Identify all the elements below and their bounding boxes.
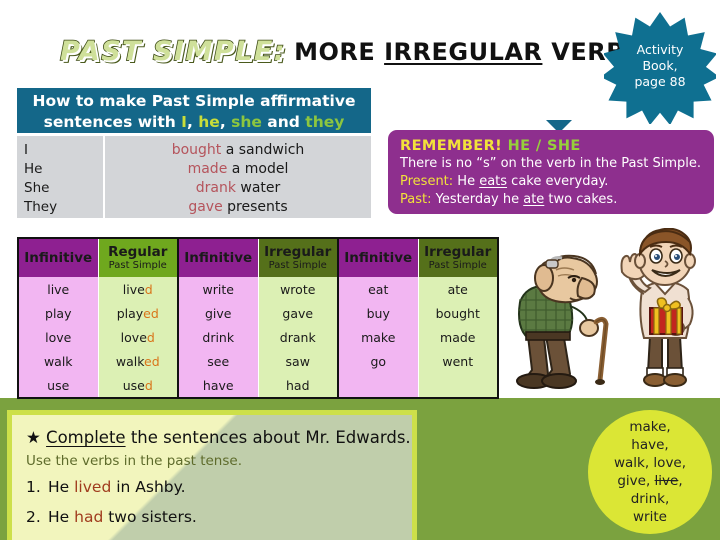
- title-irregular-underlined: IRREGULAR: [384, 38, 542, 66]
- cell-past: walked: [98, 349, 178, 373]
- header-regular: RegularPast Simple: [98, 238, 178, 277]
- remember-title: REMEMBER! HE / SHE: [400, 137, 704, 155]
- item-number: 2.: [26, 504, 48, 531]
- complete-underlined: Complete: [46, 428, 126, 447]
- subject-cell: He: [24, 160, 103, 179]
- remember-line-1: There is no “s” on the verb in the Past …: [400, 155, 704, 173]
- title-more-irregular-verbs: MORE IRREGULAR VERBS: [294, 38, 643, 66]
- exercise-box: ★ Complete the sentences about Mr. Edwar…: [12, 415, 412, 540]
- cell-past: used: [98, 373, 178, 398]
- item-number: 1.: [26, 474, 48, 501]
- cell-infinitive: live: [18, 277, 98, 301]
- word-give: give,: [617, 473, 654, 489]
- past-verb: gave: [188, 199, 222, 215]
- cell-past: made: [418, 325, 498, 349]
- title-past-simple: PAST SIMPLE:: [60, 36, 286, 67]
- cell-infinitive: see: [178, 349, 258, 373]
- cell-past: played: [98, 301, 178, 325]
- verb-ate: ate: [523, 192, 544, 207]
- cell-past: lived: [98, 277, 178, 301]
- cell-past: saw: [258, 349, 338, 373]
- cell-infinitive: have: [178, 373, 258, 398]
- old-man-figure: [517, 256, 606, 388]
- exercise-item-1: 1.He lived in Ashby.: [26, 474, 412, 501]
- cell-infinitive: eat: [338, 277, 418, 301]
- subject-cell: They: [24, 198, 103, 217]
- header-infinitive-1: Infinitive: [18, 238, 98, 277]
- remember-label: REMEMBER!: [400, 138, 502, 154]
- cell-past: bought: [418, 301, 498, 325]
- word-bank-line: make,: [614, 418, 686, 436]
- remember-box: REMEMBER! HE / SHE There is no “s” on th…: [388, 130, 714, 214]
- present-label: Present:: [400, 174, 453, 189]
- pronoun-they: they: [305, 113, 344, 131]
- cell-past: wrote: [258, 277, 338, 301]
- word-bank-line: have,: [614, 436, 686, 454]
- past-verb: bought: [172, 142, 222, 158]
- predicate-cell: bought a sandwich: [105, 141, 371, 160]
- cell-infinitive: use: [18, 373, 98, 398]
- cell-infinitive: drink: [178, 325, 258, 349]
- page-title: PAST SIMPLE:MORE IRREGULAR VERBS: [60, 36, 643, 67]
- remember-he-she: HE / SHE: [502, 138, 581, 154]
- illustration-characters: [504, 228, 714, 398]
- header-infinitive-2: Infinitive: [178, 238, 258, 277]
- past-label: Past:: [400, 192, 431, 207]
- badge-text: Activity Book, page 88: [604, 42, 716, 90]
- subject-column: I He She They: [17, 136, 105, 218]
- cell-empty: [418, 373, 498, 398]
- cell-past: went: [418, 349, 498, 373]
- cell-past: had: [258, 373, 338, 398]
- rule-header-line-1: How to make Past Simple affirmative: [17, 91, 371, 112]
- word-bank-circle: make, have, walk, love, give, live, drin…: [588, 410, 712, 534]
- predicate-cell: drank water: [105, 179, 371, 198]
- word-bank-line: walk, love,: [614, 454, 686, 472]
- exercise-instruction: ★ Complete the sentences about Mr. Edwar…: [26, 427, 412, 449]
- answer-blank[interactable]: had: [74, 508, 103, 526]
- answer-blank[interactable]: lived: [74, 478, 111, 496]
- header-irregular-1: IrregularPast Simple: [258, 238, 338, 277]
- example-sentences-table: I He She They bought a sandwich made a m…: [17, 136, 371, 218]
- predicate-cell: made a model: [105, 160, 371, 179]
- word-comma: ,: [678, 473, 682, 489]
- exercise-item-2: 2.He had two sisters.: [26, 504, 412, 531]
- cell-past: drank: [258, 325, 338, 349]
- cell-infinitive: write: [178, 277, 258, 301]
- cell-past: loved: [98, 325, 178, 349]
- subject-cell: She: [24, 179, 103, 198]
- table-row: play played give gave buy bought: [18, 301, 498, 325]
- exercise-box-border: ★ Complete the sentences about Mr. Edwar…: [7, 410, 417, 540]
- remember-line-present: Present: He eats cake everyday.: [400, 173, 704, 191]
- verb-table: Infinitive RegularPast Simple Infinitive…: [17, 237, 499, 399]
- word-live-struck: live: [655, 473, 679, 489]
- badge-line-2: Book,: [604, 58, 716, 74]
- rule-box-header: How to make Past Simple affirmative sent…: [17, 88, 371, 133]
- word-bank-text: make, have, walk, love, give, live, drin…: [614, 418, 686, 526]
- word-bank-line: write: [614, 508, 686, 526]
- verb-table-header-row: Infinitive RegularPast Simple Infinitive…: [18, 238, 498, 277]
- header-irregular-2: IrregularPast Simple: [418, 238, 498, 277]
- characters-svg: [504, 228, 714, 398]
- cell-infinitive: walk: [18, 349, 98, 373]
- star-icon: ★: [26, 428, 41, 447]
- cell-infinitive: give: [178, 301, 258, 325]
- subject-cell: I: [24, 141, 103, 160]
- activity-book-badge: Activity Book, page 88: [604, 12, 716, 124]
- predicate-cell: gave presents: [105, 198, 371, 217]
- table-row: love loved drink drank make made: [18, 325, 498, 349]
- pronoun-he: he: [198, 113, 220, 131]
- badge-line-3: page 88: [604, 74, 716, 90]
- rule-header-line-2: sentences with I, he, she and they: [17, 112, 371, 133]
- cell-infinitive: make: [338, 325, 418, 349]
- word-bank-line-with-strike: give, live,: [614, 472, 686, 490]
- cell-empty: [338, 373, 418, 398]
- cell-past: gave: [258, 301, 338, 325]
- word-bank-line: drink,: [614, 490, 686, 508]
- table-row: live lived write wrote eat ate: [18, 277, 498, 301]
- past-verb: drank: [196, 180, 236, 196]
- cell-infinitive: buy: [338, 301, 418, 325]
- badge-line-1: Activity: [604, 42, 716, 58]
- remember-line-past: Past: Yesterday he ate two cakes.: [400, 191, 704, 209]
- cell-infinitive: love: [18, 325, 98, 349]
- past-verb: made: [188, 161, 228, 177]
- table-row: use used have had: [18, 373, 498, 398]
- predicate-column: bought a sandwich made a model drank wat…: [105, 136, 371, 218]
- boy-figure: [622, 229, 696, 386]
- pronoun-she: she: [231, 113, 262, 131]
- exercise-subtitle: Use the verbs in the past tense.: [26, 451, 412, 471]
- header-infinitive-3: Infinitive: [338, 238, 418, 277]
- cell-past: ate: [418, 277, 498, 301]
- table-row: walk walked see saw go went: [18, 349, 498, 373]
- cell-infinitive: play: [18, 301, 98, 325]
- verb-eats: eats: [479, 174, 507, 189]
- cell-infinitive: go: [338, 349, 418, 373]
